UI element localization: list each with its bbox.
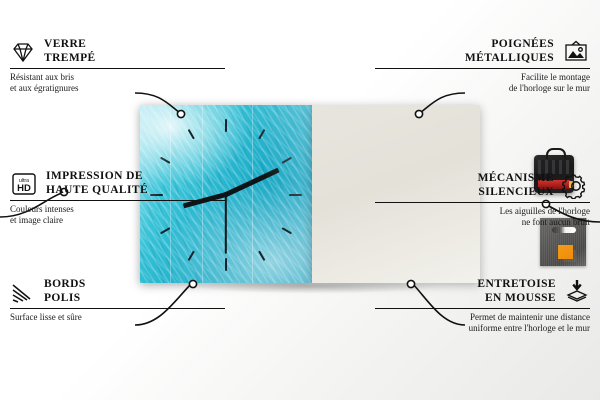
feature-bords-polis: BORDS POLIS Surface lisse et sûre xyxy=(10,278,225,323)
feature-underline xyxy=(10,200,225,201)
feature-heading: POIGNÉES MÉTALLIQUES xyxy=(375,38,590,65)
feature-description: Résistant aux bris et aux égratignures xyxy=(10,72,225,94)
feature-underline xyxy=(375,308,590,309)
feature-underline xyxy=(375,68,590,69)
clock-tick xyxy=(160,156,171,163)
clock-tick xyxy=(187,251,194,262)
feature-title: MÉCANISME SILENCIEUX xyxy=(478,172,554,199)
clock-tick xyxy=(187,129,194,140)
clock-tick xyxy=(282,156,293,163)
ultra-hd-icon: ultra HD xyxy=(10,172,38,196)
clock-tick xyxy=(258,251,265,262)
feature-description: Surface lisse et sûre xyxy=(10,312,225,323)
feature-description: Couleurs intenses et image claire xyxy=(10,204,225,226)
orange-foam-spacer xyxy=(558,245,573,259)
feature-description: Les aiguilles de l'horloge ne font aucun… xyxy=(375,206,590,228)
feature-heading: ultra HD IMPRESSION DE HAUTE QUALITÉ xyxy=(10,170,225,197)
feature-description: Permet de maintenir une distance uniform… xyxy=(375,312,590,334)
clock-tick xyxy=(225,258,227,271)
clock-tick xyxy=(282,227,293,234)
feature-heading: ENTRETOISE EN MOUSSE xyxy=(375,278,590,305)
feature-heading: MÉCANISME SILENCIEUX xyxy=(375,172,590,199)
picture-frame-hanger-icon xyxy=(562,40,590,64)
feature-heading: BORDS POLIS xyxy=(10,278,225,305)
svg-text:HD: HD xyxy=(17,183,31,194)
gear-icon xyxy=(562,173,590,199)
feature-title: BORDS POLIS xyxy=(44,278,86,305)
clock-second-hand xyxy=(225,192,227,254)
polished-edges-icon xyxy=(10,281,36,303)
feature-underline xyxy=(10,308,225,309)
clock-tick xyxy=(225,119,227,132)
feature-title: POIGNÉES MÉTALLIQUES xyxy=(465,38,554,65)
clock-tick xyxy=(289,194,302,196)
feature-verre-trempe: VERRE TREMPÉ Résistant aux bris et aux é… xyxy=(10,38,225,94)
feature-title: IMPRESSION DE HAUTE QUALITÉ xyxy=(46,170,148,197)
clock-minute-hand xyxy=(223,167,279,197)
feature-impression-haute-qualite: ultra HD IMPRESSION DE HAUTE QUALITÉ Cou… xyxy=(10,170,225,226)
feature-entretoise-en-mousse: ENTRETOISE EN MOUSSE Permet de maintenir… xyxy=(375,278,590,334)
mechanism-loop xyxy=(546,148,566,159)
feature-heading: VERRE TREMPÉ xyxy=(10,38,225,65)
feature-title: ENTRETOISE EN MOUSSE xyxy=(477,278,556,305)
feature-description: Facilite le montage de l'horloge sur le … xyxy=(375,72,590,94)
feature-underline xyxy=(10,68,225,69)
feature-poignees-metalliques: POIGNÉES MÉTALLIQUES Facilite le montage… xyxy=(375,38,590,94)
diamond-icon xyxy=(10,41,36,63)
clock-tick xyxy=(258,129,265,140)
foam-spacer-arrow-icon xyxy=(564,280,590,304)
infographic-canvas: VERRE TREMPÉ Résistant aux bris et aux é… xyxy=(0,0,600,400)
feature-underline xyxy=(375,202,590,203)
clock-tick xyxy=(160,227,171,234)
feature-mecanisme-silencieux: MÉCANISME SILENCIEUX Les aiguilles de l'… xyxy=(375,172,590,228)
feature-title: VERRE TREMPÉ xyxy=(44,38,96,65)
